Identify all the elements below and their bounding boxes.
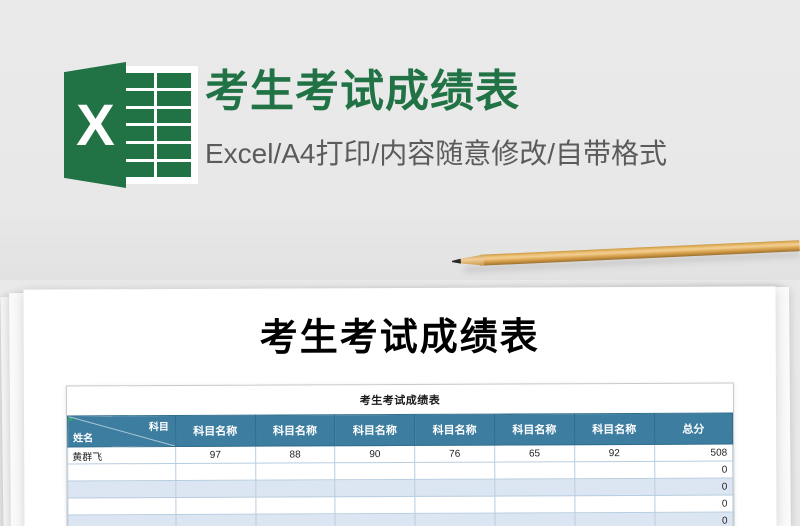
- cell-score[interactable]: 97: [175, 446, 255, 463]
- workbook-title: 考生考试成绩表: [67, 384, 733, 416]
- cell-score[interactable]: [575, 495, 655, 512]
- cell-score[interactable]: 90: [335, 445, 415, 462]
- cell-score[interactable]: 76: [415, 445, 495, 462]
- cell-score[interactable]: [335, 496, 415, 513]
- cell-student-name[interactable]: 黄群飞: [68, 446, 176, 463]
- workbook-card: 考生考试成绩表 科目 姓名 科目名称: [66, 383, 735, 526]
- cell-student-name[interactable]: [68, 514, 176, 526]
- grade-table-body: 黄群飞 97 88 90 76 65 92 508: [68, 444, 733, 526]
- column-header-subject-3[interactable]: 科目名称: [335, 414, 415, 445]
- cell-score[interactable]: 88: [255, 446, 335, 463]
- cell-student-name[interactable]: [68, 497, 176, 514]
- cell-score[interactable]: [335, 462, 415, 479]
- table-row[interactable]: 0: [68, 512, 733, 526]
- cell-score[interactable]: [495, 479, 575, 496]
- cell-score[interactable]: [255, 514, 335, 526]
- cell-score[interactable]: [255, 480, 335, 497]
- cell-total[interactable]: 0: [654, 512, 733, 526]
- excel-logo: X: [64, 62, 198, 188]
- top-banner: X 考生考试成绩表 Excel/A4打印/内容随意修改/自带格式: [0, 0, 800, 280]
- cell-total[interactable]: 0: [654, 461, 733, 478]
- table-header-row: 科目 姓名 科目名称 科目名称 科目名称 科目名称 科目名称 科目名称 总分: [68, 413, 733, 447]
- cell-score[interactable]: [335, 479, 415, 496]
- paper-sheet-front: 考生考试成绩表 考生考试成绩表 科目 姓名: [23, 286, 776, 526]
- cell-score[interactable]: [175, 463, 255, 480]
- cell-student-name[interactable]: [68, 480, 176, 497]
- cell-score[interactable]: [495, 496, 575, 513]
- cell-total[interactable]: 0: [654, 495, 733, 512]
- cell-score[interactable]: [176, 480, 256, 497]
- cell-score[interactable]: [415, 479, 495, 496]
- banner-subtitle: Excel/A4打印/内容随意修改/自带格式: [205, 132, 667, 172]
- pencil-graphite-tip: [452, 259, 461, 264]
- column-header-subject-6[interactable]: 科目名称: [574, 413, 654, 444]
- cell-score[interactable]: [574, 461, 654, 478]
- excel-logo-grid: [116, 70, 194, 180]
- cell-score[interactable]: [575, 478, 655, 495]
- cell-score[interactable]: 92: [574, 444, 654, 461]
- cell-score[interactable]: [255, 463, 335, 480]
- cell-score[interactable]: [415, 462, 495, 479]
- cell-score[interactable]: [176, 497, 256, 514]
- cell-score[interactable]: [176, 514, 256, 526]
- column-header-total[interactable]: 总分: [654, 413, 733, 444]
- cell-score[interactable]: [415, 513, 495, 526]
- cell-score[interactable]: [415, 496, 495, 513]
- document-heading: 考生考试成绩表: [24, 304, 776, 362]
- cell-score[interactable]: [575, 512, 655, 526]
- cell-total[interactable]: 508: [654, 444, 733, 461]
- pencil-wood-cone: [458, 255, 484, 267]
- grade-table: 科目 姓名 科目名称 科目名称 科目名称 科目名称 科目名称 科目名称 总分 黄…: [67, 413, 734, 526]
- header-corner-cell: 科目 姓名: [68, 415, 176, 446]
- cell-total[interactable]: 0: [654, 478, 733, 495]
- column-header-subject-2[interactable]: 科目名称: [255, 415, 335, 446]
- column-header-subject-5[interactable]: 科目名称: [494, 414, 574, 445]
- header-name-label: 姓名: [73, 429, 93, 444]
- cell-student-name[interactable]: [68, 463, 176, 480]
- cell-score[interactable]: [495, 513, 575, 526]
- cell-score[interactable]: 65: [495, 445, 575, 462]
- column-header-subject-1[interactable]: 科目名称: [175, 415, 255, 446]
- column-header-subject-4[interactable]: 科目名称: [415, 414, 495, 445]
- header-subject-label: 科目: [149, 418, 169, 433]
- excel-logo-letter: X: [64, 62, 126, 188]
- cell-score[interactable]: [495, 462, 575, 479]
- banner-title: 考生考试成绩表: [205, 66, 520, 118]
- cell-score[interactable]: [335, 513, 415, 526]
- cell-score[interactable]: [255, 497, 335, 514]
